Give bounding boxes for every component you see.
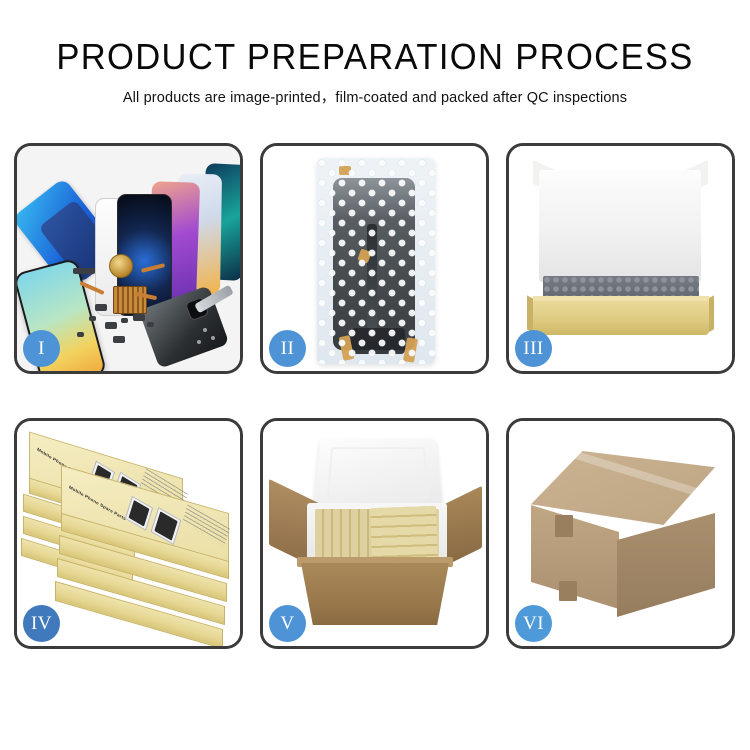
process-step-4: Mobile Phone Spare Parts Mobile Phone Sp… (14, 418, 243, 649)
bubble-wrap-bag (317, 158, 435, 364)
page-title: PRODUCT PREPARATION PROCESS (15, 38, 735, 76)
box-front-face (533, 301, 709, 335)
small-part (105, 322, 117, 329)
box-window (125, 496, 153, 531)
step-badge-3: III (515, 330, 552, 367)
carton-right-face (617, 513, 715, 617)
chip-grid-part (113, 286, 147, 314)
white-foam-sheet (539, 170, 701, 282)
step-badge-5: V (269, 605, 306, 642)
process-step-grid: I II (14, 143, 736, 649)
small-part (121, 318, 128, 323)
step-badge-1: I (23, 330, 60, 367)
small-part (95, 304, 107, 311)
carton-tape-patch (559, 581, 577, 601)
screw-part (211, 336, 215, 340)
small-part (73, 268, 95, 274)
copper-coil-part (109, 254, 133, 278)
step-badge-2: II (269, 330, 306, 367)
box-spec-text (182, 505, 230, 547)
step-badge-4: IV (23, 605, 60, 642)
process-step-2: II (260, 143, 489, 374)
box-stack-scene: Mobile Phone Spare Parts Mobile Phone Sp… (21, 437, 237, 633)
carton-front-face (301, 563, 449, 625)
styrofoam-lid (313, 439, 442, 510)
product-preparation-infographic: PRODUCT PREPARATION PROCESS All products… (0, 0, 750, 750)
step-badge-6: VI (515, 605, 552, 642)
process-step-5: V (260, 418, 489, 649)
carton-tape-patch (555, 515, 573, 537)
screw-part (203, 328, 207, 332)
bubble-texture-highlight (317, 158, 435, 364)
small-part (77, 332, 84, 337)
page-subtitle: All products are image-printed，film-coat… (0, 86, 750, 107)
small-part (133, 314, 145, 321)
screw-part (197, 340, 201, 344)
small-part (147, 322, 154, 327)
box-label: Mobile Phone Spare Parts (68, 484, 126, 521)
process-step-6: VI (506, 418, 735, 649)
process-step-1: I (14, 143, 243, 374)
process-step-3: III (506, 143, 735, 374)
small-part (89, 316, 96, 321)
header: PRODUCT PREPARATION PROCESS All products… (0, 0, 750, 107)
small-part (113, 336, 125, 343)
